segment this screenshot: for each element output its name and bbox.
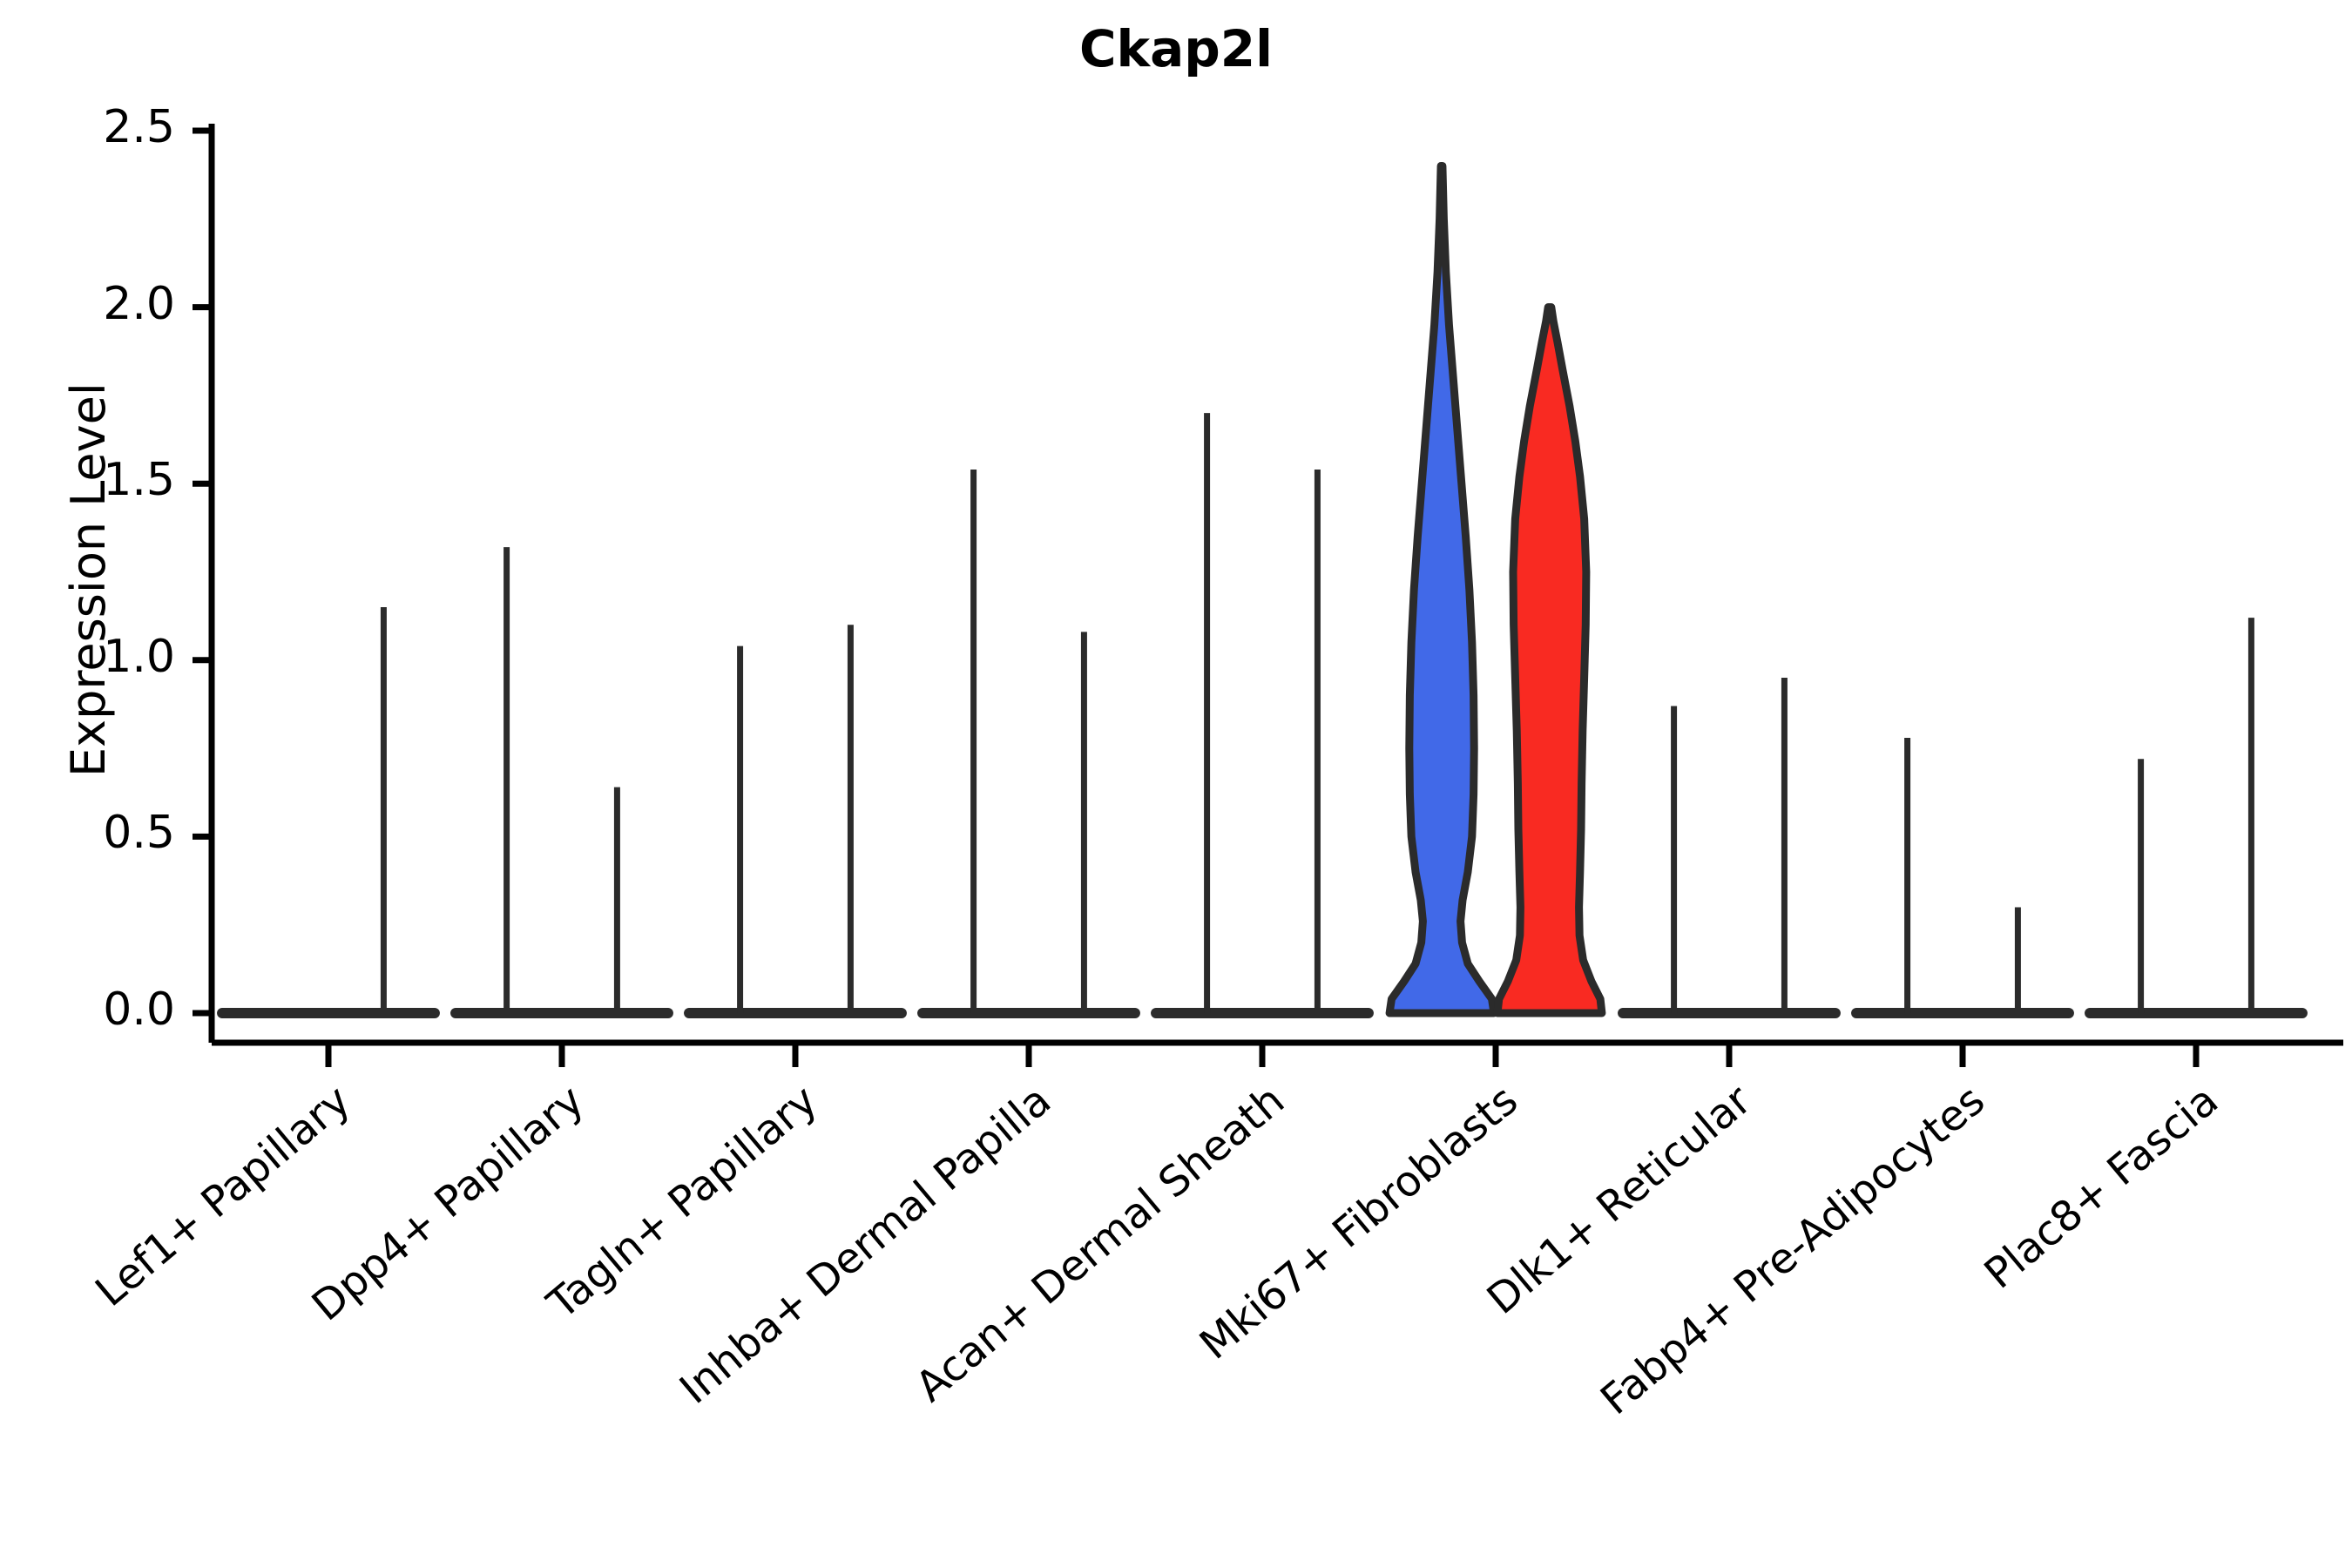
violin-plot-figure: Ckap2l Expression Level 0.00.51.01.52.02… (0, 0, 2352, 1568)
violin-acan-dermal-sheath-group-1[interactable] (1156, 413, 1369, 1013)
violin-plac8-fascia-group-1[interactable] (2090, 759, 2302, 1013)
violin-mki67-fibroblasts-group-2[interactable] (1497, 308, 1602, 1013)
violin-body[interactable] (1389, 166, 1494, 1014)
plot-area (0, 0, 2352, 1568)
violin-fabp4-pre-adipocytes-group-1[interactable] (1856, 738, 2069, 1013)
violin-mki67-fibroblasts-group-1[interactable] (1389, 166, 1494, 1014)
violin-dlk1-reticular-group-1[interactable] (1623, 706, 1835, 1013)
violin-inhba-dermal-papilla-group-1[interactable] (923, 470, 1135, 1013)
violin-body[interactable] (1497, 308, 1602, 1013)
violin-dpp4-papillary-group-1[interactable] (456, 547, 668, 1013)
violin-tagln-papillary-group-1[interactable] (689, 646, 902, 1013)
